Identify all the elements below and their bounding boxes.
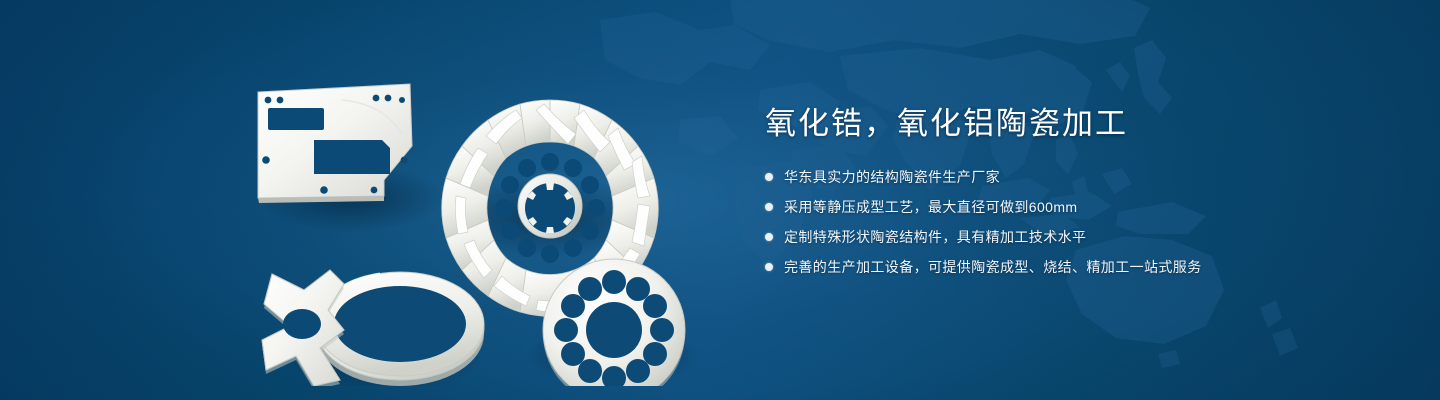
- list-item: 完善的生产加工设备，可提供陶瓷成型、烧结、精加工一站式服务: [765, 256, 1385, 278]
- list-item: 华东具实力的结构陶瓷件生产厂家: [765, 166, 1385, 188]
- bullet-dot-icon: [765, 263, 773, 271]
- bullet-dot-icon: [765, 203, 773, 211]
- bullet-dot-icon: [765, 233, 773, 241]
- promo-banner: 氧化锆，氧化铝陶瓷加工 华东具实力的结构陶瓷件生产厂家 采用等静压成型工艺，最大…: [0, 0, 1440, 400]
- feature-text: 完善的生产加工设备，可提供陶瓷成型、烧结、精加工一站式服务: [784, 256, 1202, 278]
- feature-text: 华东具实力的结构陶瓷件生产厂家: [784, 166, 1000, 188]
- banner-headline: 氧化锆，氧化铝陶瓷加工: [765, 104, 1385, 144]
- feature-list: 华东具实力的结构陶瓷件生产厂家 采用等静压成型工艺，最大直径可做到600mm 定…: [765, 166, 1385, 278]
- banner-copy: 氧化锆，氧化铝陶瓷加工 华东具实力的结构陶瓷件生产厂家 采用等静压成型工艺，最大…: [765, 104, 1385, 286]
- bullet-dot-icon: [765, 173, 773, 181]
- list-item: 定制特殊形状陶瓷结构件，具有精加工技术水平: [765, 226, 1385, 248]
- ceramic-cross-part: [262, 270, 344, 386]
- feature-text: 定制特殊形状陶瓷结构件，具有精加工技术水平: [784, 226, 1086, 248]
- feature-text: 采用等静压成型工艺，最大直径可做到600mm: [784, 196, 1077, 218]
- list-item: 采用等静压成型工艺，最大直径可做到600mm: [765, 196, 1385, 218]
- ceramic-parts-photo: [232, 38, 732, 386]
